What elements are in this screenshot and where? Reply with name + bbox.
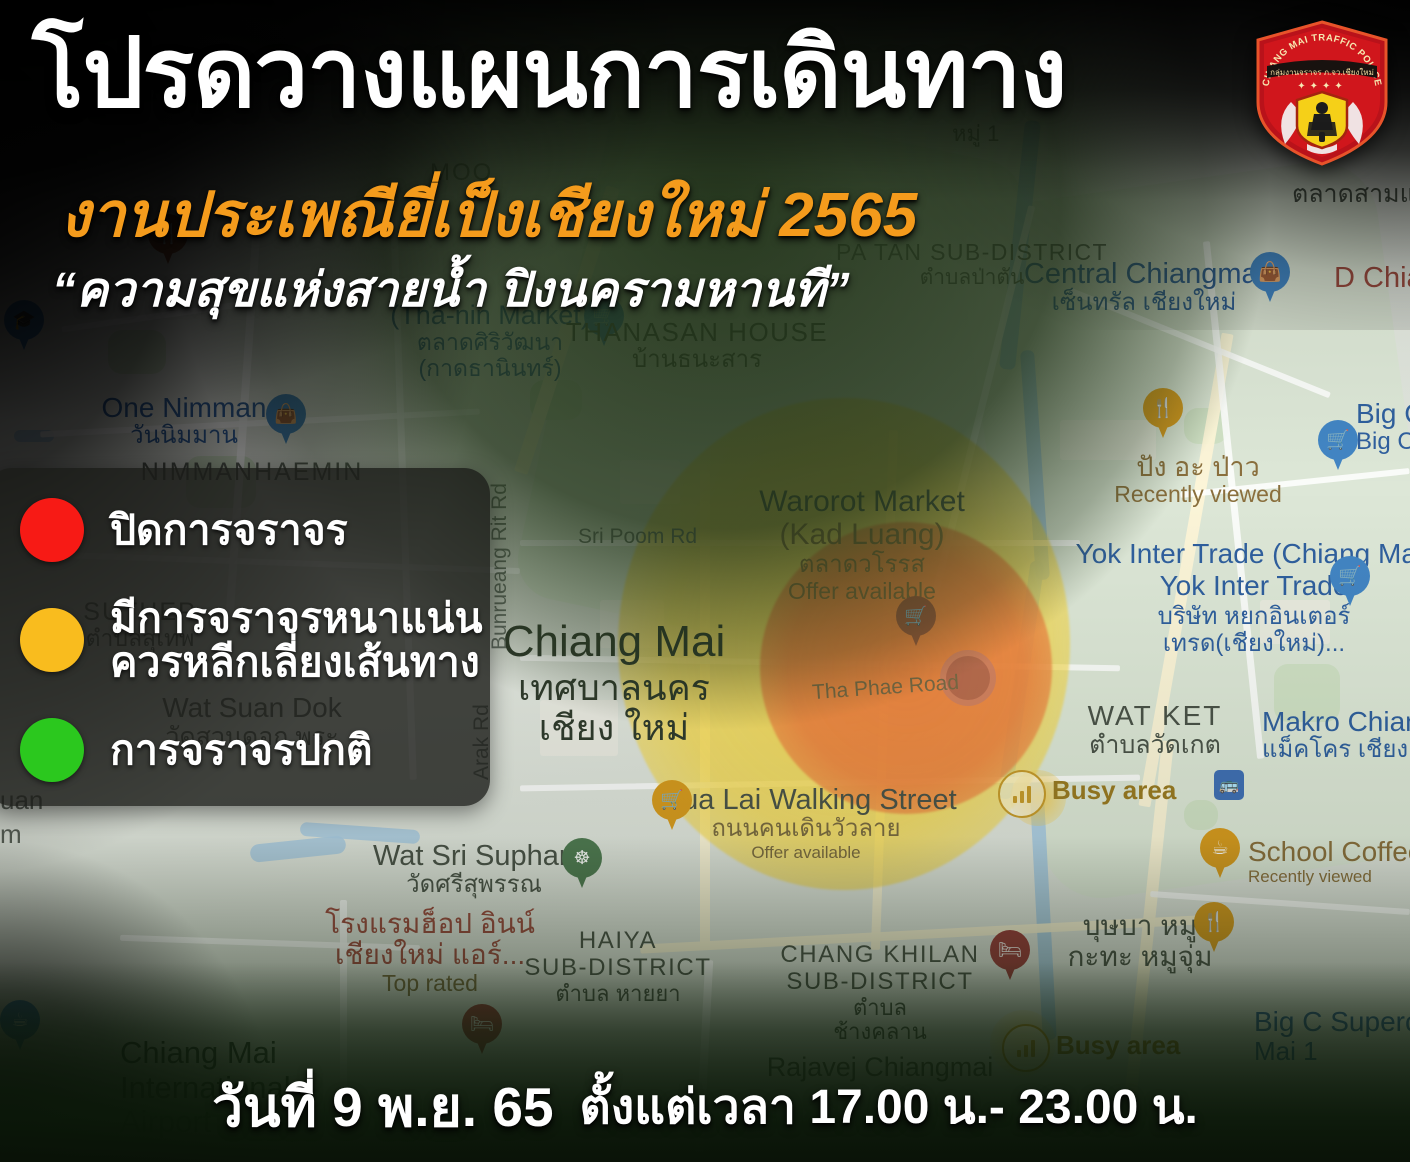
traffic-advisory-poster: One Nimman วันนิมมาน 👜 NIMMANHAEMIN (Tha… [0, 0, 1410, 1162]
event-subtitle: งานประเพณียี่เป็งเชียงใหม่ 2565 [60, 166, 917, 264]
svg-text:✦✦✦✦: ✦✦✦✦ [1297, 81, 1347, 92]
yellow-dot-icon [20, 608, 84, 672]
legend-label-normal: การจราจรปกติ [110, 728, 372, 772]
event-time: ตั้งแต่เวลา 17.00 น.- 23.00 น. [580, 1069, 1198, 1145]
event-date: วันที่ 9 พ.ย. 65 [212, 1064, 553, 1151]
legend-label-closed: ปิดการจราจร [110, 508, 348, 552]
legend-label-congested-line2: ควรหลีกเลี่ยงเส้นทาง [110, 640, 483, 684]
legend-item-normal[interactable]: การจราจรปกติ [20, 718, 372, 782]
green-dot-icon [20, 718, 84, 782]
legend-label-congested-wrap: มีการจราจรหนาแน่น ควรหลีกเลี่ยงเส้นทาง [110, 596, 483, 685]
red-dot-icon [20, 498, 84, 562]
page-title: โปรดวางแผนการเดินทาง [32, 22, 1066, 126]
svg-text:กลุ่มงานจราจร ภ.จว.เชียงใหม่: กลุ่มงานจราจร ภ.จว.เชียงใหม่ [1270, 68, 1374, 77]
legend-item-congested[interactable]: มีการจราจรหนาแน่น ควรหลีกเลี่ยงเส้นทาง [20, 596, 483, 685]
legend-label-congested-line1: มีการจราจรหนาแน่น [110, 596, 483, 640]
traffic-legend-panel: ปิดการจราจร มีการจราจรหนาแน่น ควรหลีกเลี… [0, 468, 490, 806]
event-datetime-banner: วันที่ 9 พ.ย. 65 ตั้งแต่เวลา 17.00 น.- 2… [0, 1052, 1410, 1162]
legend-item-closed[interactable]: ปิดการจราจร [20, 498, 348, 562]
chiang-mai-traffic-police-badge-icon: CHIANG MAI TRAFFIC POLICE กลุ่มงานจราจร … [1247, 18, 1397, 168]
event-slogan: “ความสุขแห่งสายน้ำ ปิงนครามหานที” [52, 252, 850, 328]
